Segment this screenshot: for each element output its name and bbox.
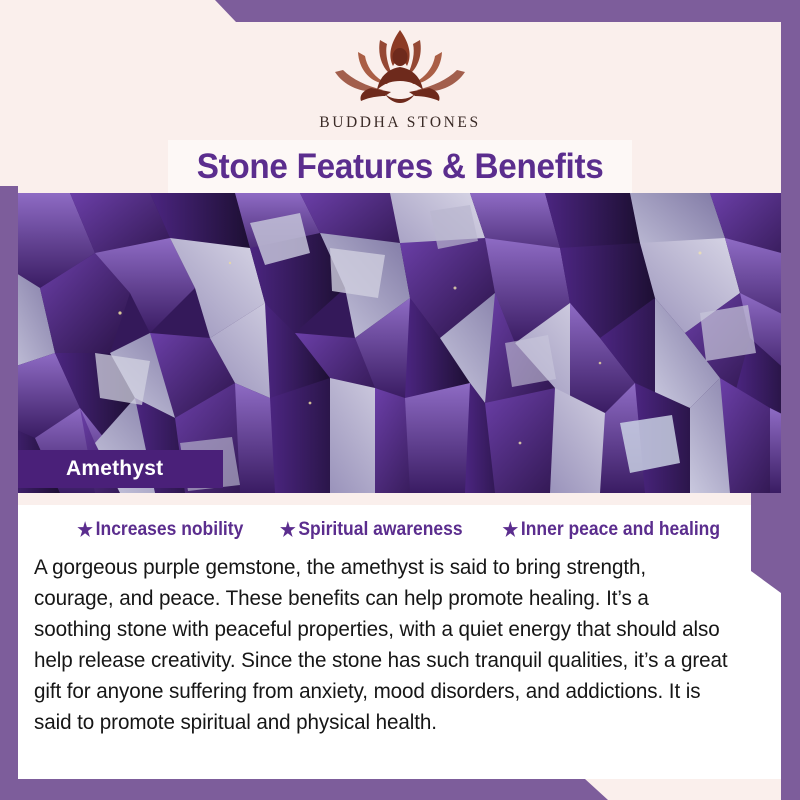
crystal-texture-graphic (0, 193, 800, 493)
stone-name-banner: Amethyst (18, 450, 223, 488)
brand-logo: BUDDHA STONES (0, 24, 800, 132)
benefit-label: Increases nobility (95, 519, 243, 541)
stone-name-label: Amethyst (18, 457, 163, 481)
frame-left-bar (0, 186, 18, 800)
infographic-page: BUDDHA STONES Stone Features & Benefits … (0, 0, 800, 800)
benefit-item: ★ Inner peace and healing (502, 519, 720, 541)
benefit-item: ★ Spiritual awareness (280, 519, 463, 541)
title-band: Stone Features & Benefits (168, 140, 632, 193)
amethyst-crystal-image (0, 193, 800, 493)
star-icon: ★ (502, 521, 518, 540)
frame-bottom-bar (0, 779, 800, 800)
benefit-label: Inner peace and healing (521, 519, 720, 541)
benefit-item: ★ Increases nobility (77, 519, 243, 541)
brand-name: BUDDHA STONES (0, 114, 800, 132)
star-icon: ★ (280, 521, 296, 540)
benefit-label: Spiritual awareness (299, 519, 463, 541)
star-icon: ★ (77, 521, 93, 540)
content-top-strip (18, 493, 781, 505)
page-title: Stone Features & Benefits (197, 147, 604, 187)
content-panel: ★ Increases nobility ★ Spiritual awarene… (18, 505, 781, 779)
benefits-row: ★ Increases nobility ★ Spiritual awarene… (18, 505, 781, 541)
lotus-meditation-icon (325, 24, 475, 110)
stone-description: A gorgeous purple gemstone, the amethyst… (34, 552, 731, 738)
frame-right-bar (781, 0, 800, 800)
